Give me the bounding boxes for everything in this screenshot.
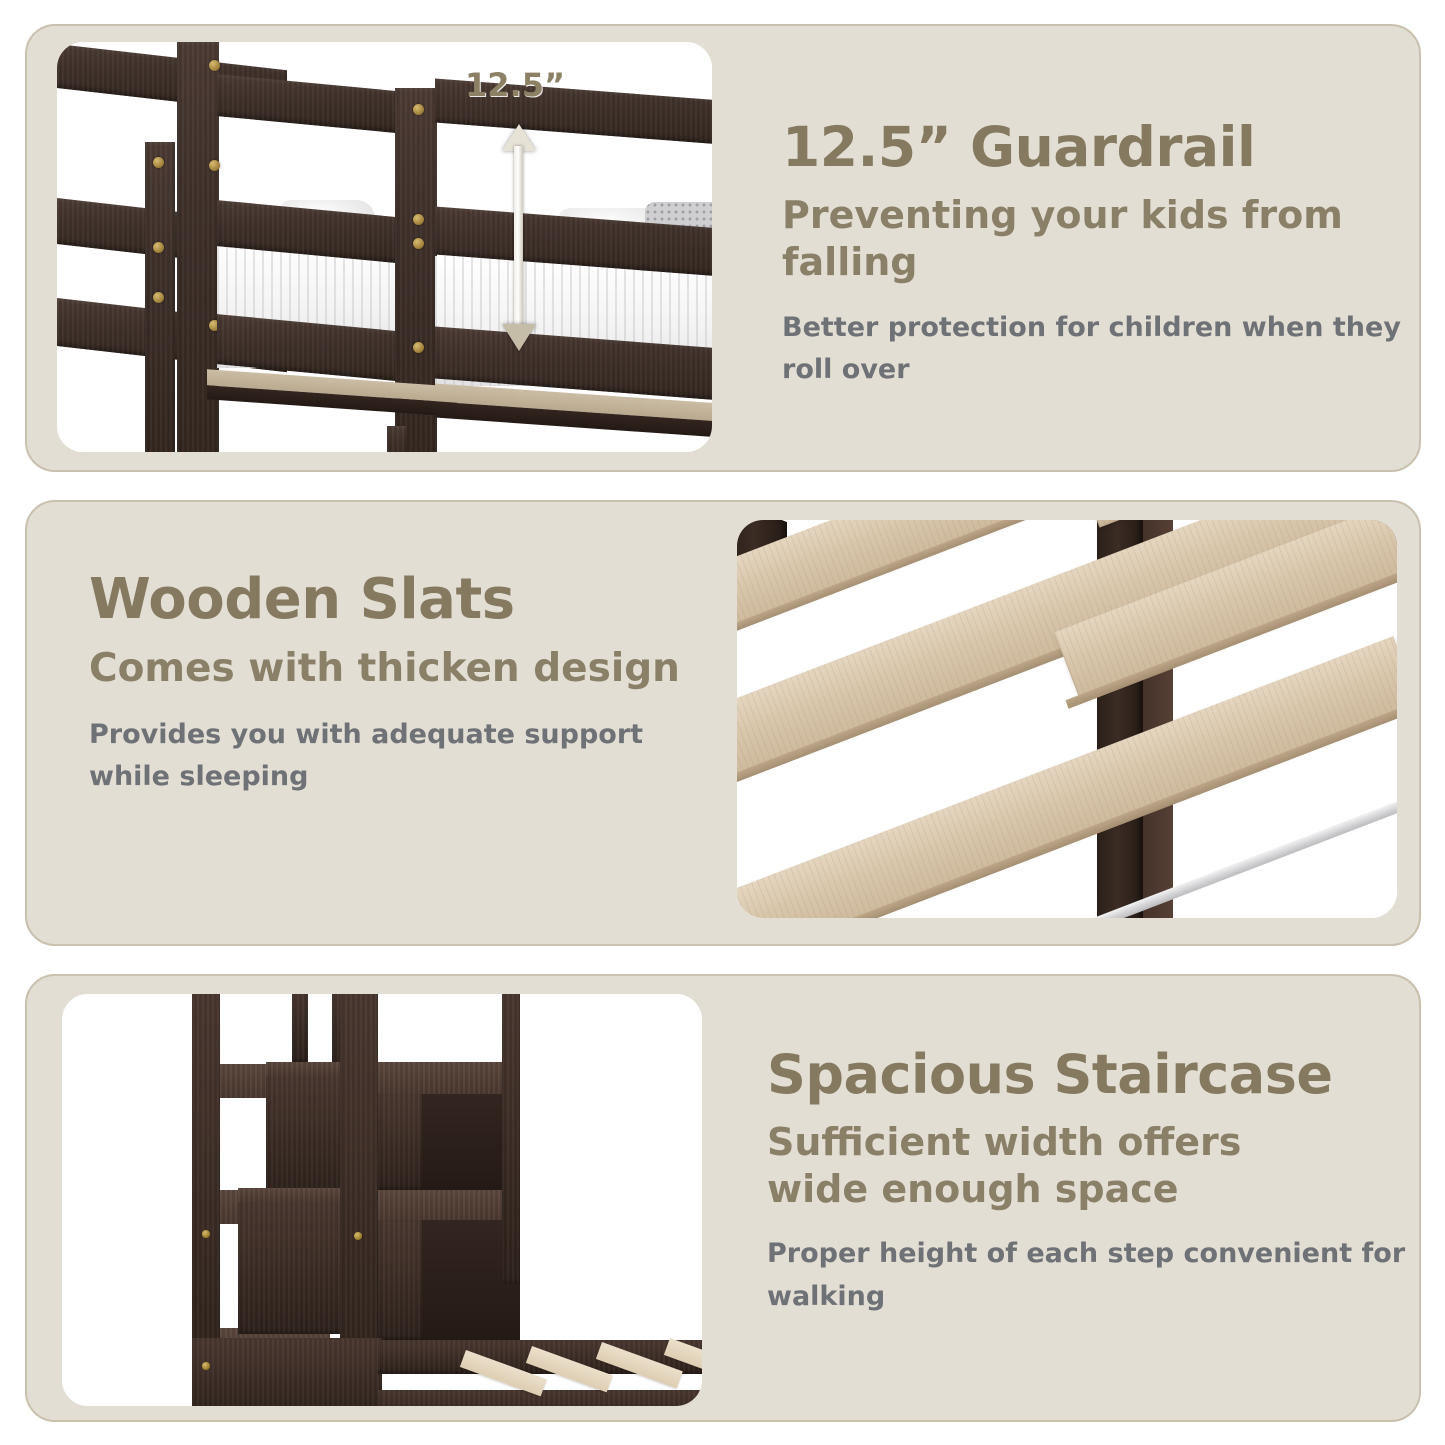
feature-card-guardrail: 12.5” 12.5” Guardrail Preventing your ki… [25,24,1421,472]
wooden-slats-photo [737,520,1397,918]
guardrail-photo: 12.5” [57,42,712,452]
staircase-heading: Spacious Staircase [767,1046,1407,1103]
staircase-photo [62,994,702,1406]
slats-heading: Wooden Slats [89,570,729,629]
feature-card-wooden-slats: Wooden Slats Comes with thicken design P… [25,500,1421,946]
feature-card-staircase: Spacious Staircase Sufficient width offe… [25,974,1421,1422]
guardrail-text-block: 12.5” Guardrail Preventing your kids fro… [782,118,1402,392]
staircase-body: Proper height of each step convenient fo… [767,1233,1407,1318]
slats-text-block: Wooden Slats Comes with thicken design P… [89,570,729,799]
slats-body: Provides you with adequate support while… [89,714,729,799]
slats-subheading: Comes with thicken design [89,645,729,693]
staircase-text-block: Spacious Staircase Sufficient width offe… [767,1046,1407,1319]
guardrail-heading: 12.5” Guardrail [782,118,1402,176]
staircase-subheading: Sufficient width offers wide enough spac… [767,1119,1327,1213]
guardrail-body: Better protection for children when they… [782,307,1402,392]
infographic-page: 12.5” 12.5” Guardrail Preventing your ki… [0,0,1445,1445]
guardrail-subheading: Preventing your kids from falling [782,192,1402,286]
dimension-arrow-down [502,324,536,351]
dimension-arrow-line [514,146,523,328]
dimension-label: 12.5” [465,66,565,104]
